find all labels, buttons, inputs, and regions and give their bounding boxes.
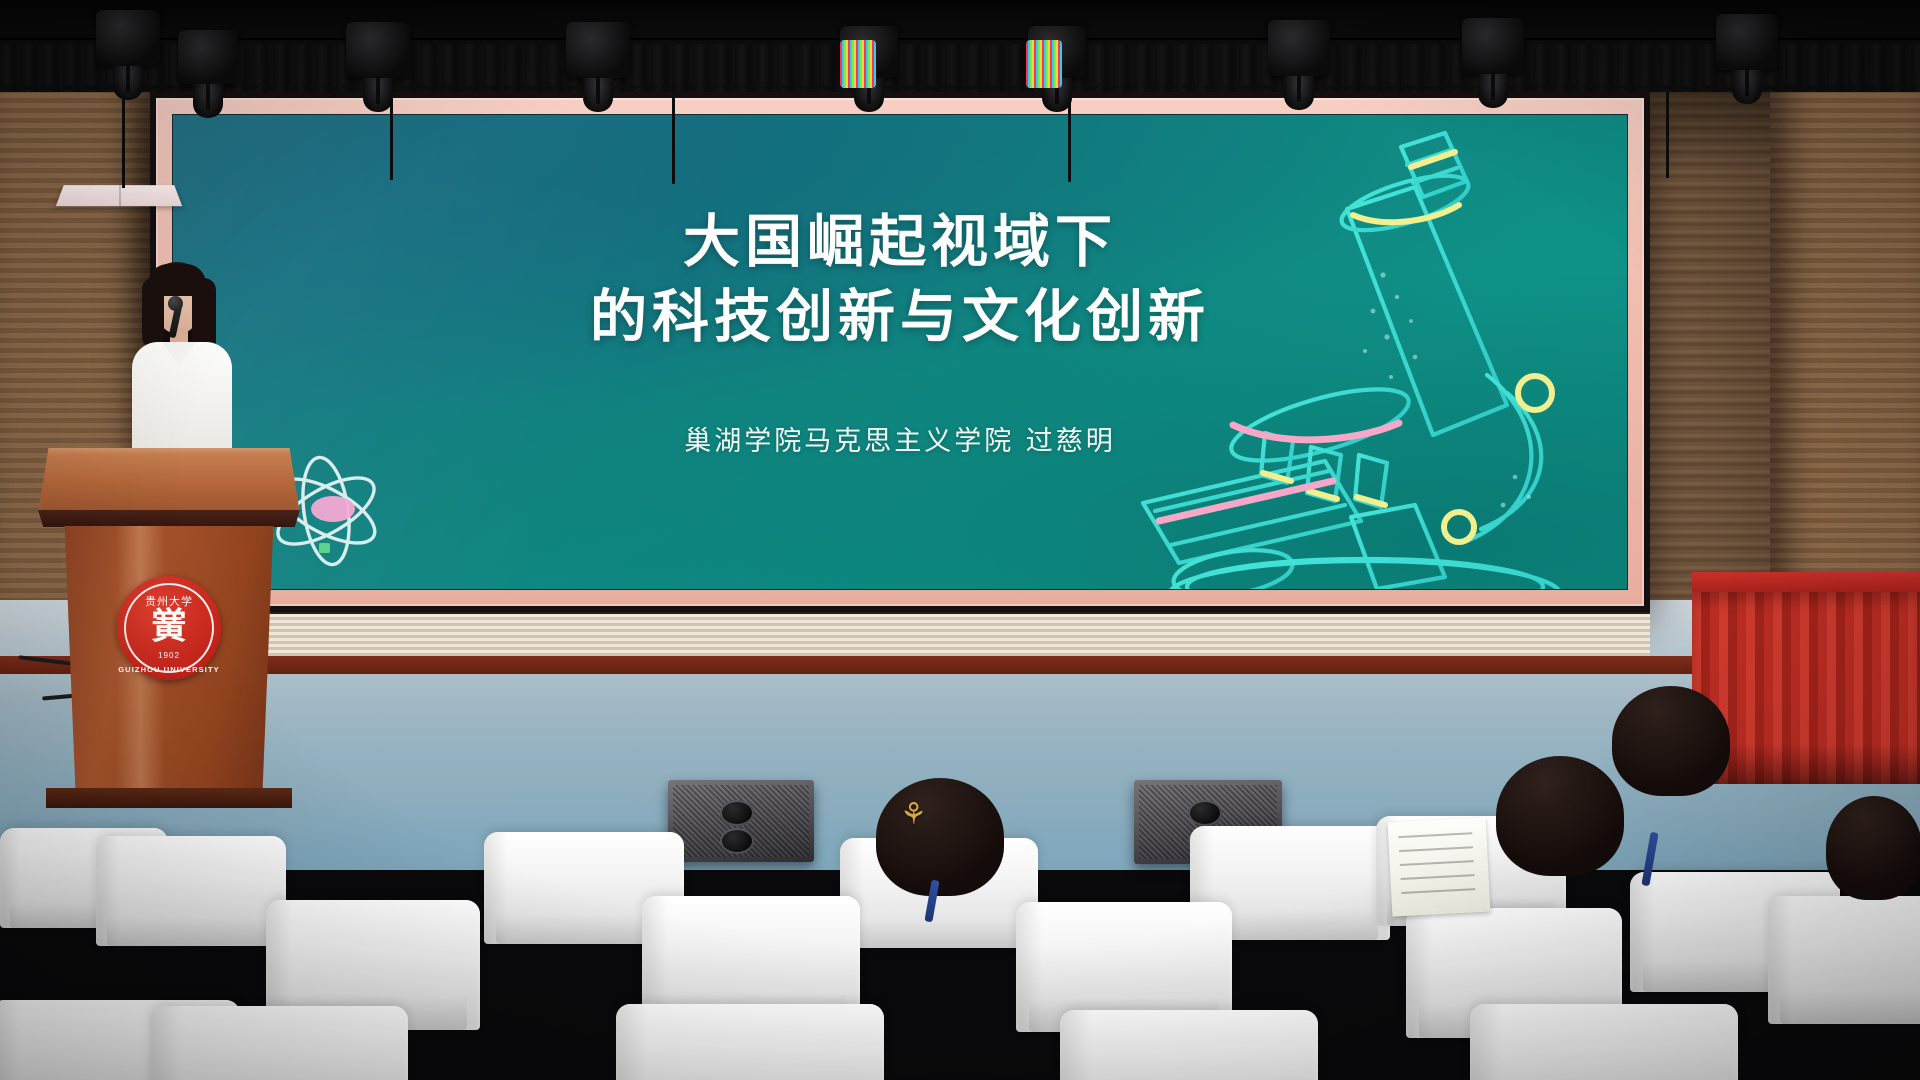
stage-light-lens <box>1284 76 1314 110</box>
audience-chair[interactable] <box>1060 1010 1318 1080</box>
guizhou-university-emblem: 贵州大学 黉 1902 GUIZHOU UNIVERSITY <box>117 576 221 680</box>
handout-line <box>1400 860 1474 866</box>
attendee-with-papers <box>1612 686 1730 796</box>
audience-chair[interactable] <box>1470 1004 1738 1080</box>
audience-chair[interactable] <box>96 836 286 946</box>
microscope-icon <box>1115 125 1595 590</box>
lectern-lip <box>38 510 300 527</box>
attendee-head <box>1826 796 1920 900</box>
ceiling-drape <box>0 44 1920 92</box>
audience-chair[interactable] <box>616 1004 884 1080</box>
attendee-blue-lanyard <box>1496 756 1624 876</box>
gold-hairpin-icon: ⚘ <box>900 800 927 830</box>
stage-light-lens <box>193 84 223 118</box>
stage-light-lens <box>583 78 613 112</box>
led-pixels <box>1026 40 1062 88</box>
stage-monitor-speaker <box>668 780 814 862</box>
stage-light <box>1462 18 1524 74</box>
microphone-head-icon <box>168 296 183 311</box>
audience-handout <box>1388 817 1491 916</box>
attendee-head <box>1496 756 1624 876</box>
lectern[interactable]: 贵州大学 黉 1902 GUIZHOU UNIVERSITY <box>38 448 300 798</box>
stage-apron-grille <box>150 612 1650 656</box>
lectern-base <box>46 788 292 808</box>
handout-line <box>1401 888 1475 894</box>
attendee-right-edge <box>1826 796 1920 900</box>
lectern-script <box>56 185 182 206</box>
side-wall-right <box>1770 58 1920 618</box>
handout-line <box>1398 832 1472 838</box>
audience-chair[interactable] <box>1768 896 1920 1024</box>
audience-chair[interactable] <box>150 1006 408 1080</box>
attendee-head <box>1612 686 1730 796</box>
speaker-driver <box>1188 800 1222 826</box>
stage-light-lens <box>1732 70 1762 104</box>
stage-light-lens <box>363 78 393 112</box>
emblem-center-glyph: 黉 <box>117 609 221 645</box>
emblem-year: 1902 <box>117 651 221 660</box>
stage-light <box>346 22 410 78</box>
speaker-driver <box>720 828 754 854</box>
led-screen-housing: 大国崛起视域下 的科技创新与文化创新 巢湖学院马克思主义学院 过慈明 <box>150 92 1650 612</box>
handout-line <box>1399 846 1473 852</box>
stage-light <box>96 10 160 66</box>
lighting-truss <box>0 0 1920 40</box>
speaker-driver <box>720 800 754 826</box>
stage-light <box>1268 20 1330 76</box>
lectern-top <box>38 448 300 514</box>
stage-light-lens <box>113 66 143 100</box>
attendee-head <box>876 778 1004 896</box>
auditorium-scene: 大国崛起视域下 的科技创新与文化创新 巢湖学院马克思主义学院 过慈明 贵州大学 … <box>0 0 1920 1080</box>
stage-light <box>1716 14 1778 70</box>
stage-light <box>178 30 238 84</box>
presentation-screen[interactable]: 大国崛起视域下 的科技创新与文化创新 巢湖学院马克思主义学院 过慈明 <box>172 114 1628 590</box>
presenter-hair-left <box>142 278 164 348</box>
slide-subtitle: 巢湖学院马克思主义学院 过慈明 <box>173 419 1627 458</box>
slide-title-line-1: 大国崛起视域下 <box>173 205 1627 280</box>
presenter <box>128 262 238 462</box>
led-wash-light <box>1026 40 1062 88</box>
stage-light <box>566 22 630 78</box>
led-wash-light <box>840 40 876 88</box>
handout-line <box>1400 874 1474 880</box>
stage-light-lens <box>1478 74 1508 108</box>
emblem-inner: 贵州大学 黉 1902 GUIZHOU UNIVERSITY <box>117 576 221 680</box>
led-pixels <box>840 40 876 88</box>
judges-table-top <box>1692 572 1920 594</box>
slide-title-line-2: 的科技创新与文化创新 <box>173 280 1627 355</box>
attendee-with-gold-hairpin <box>876 778 1004 896</box>
screen-bezel: 大国崛起视域下 的科技创新与文化创新 巢湖学院马克思主义学院 过慈明 <box>156 98 1644 606</box>
slide-title: 大国崛起视域下 的科技创新与文化创新 <box>173 205 1627 355</box>
emblem-en-name: GUIZHOU UNIVERSITY <box>117 665 221 674</box>
